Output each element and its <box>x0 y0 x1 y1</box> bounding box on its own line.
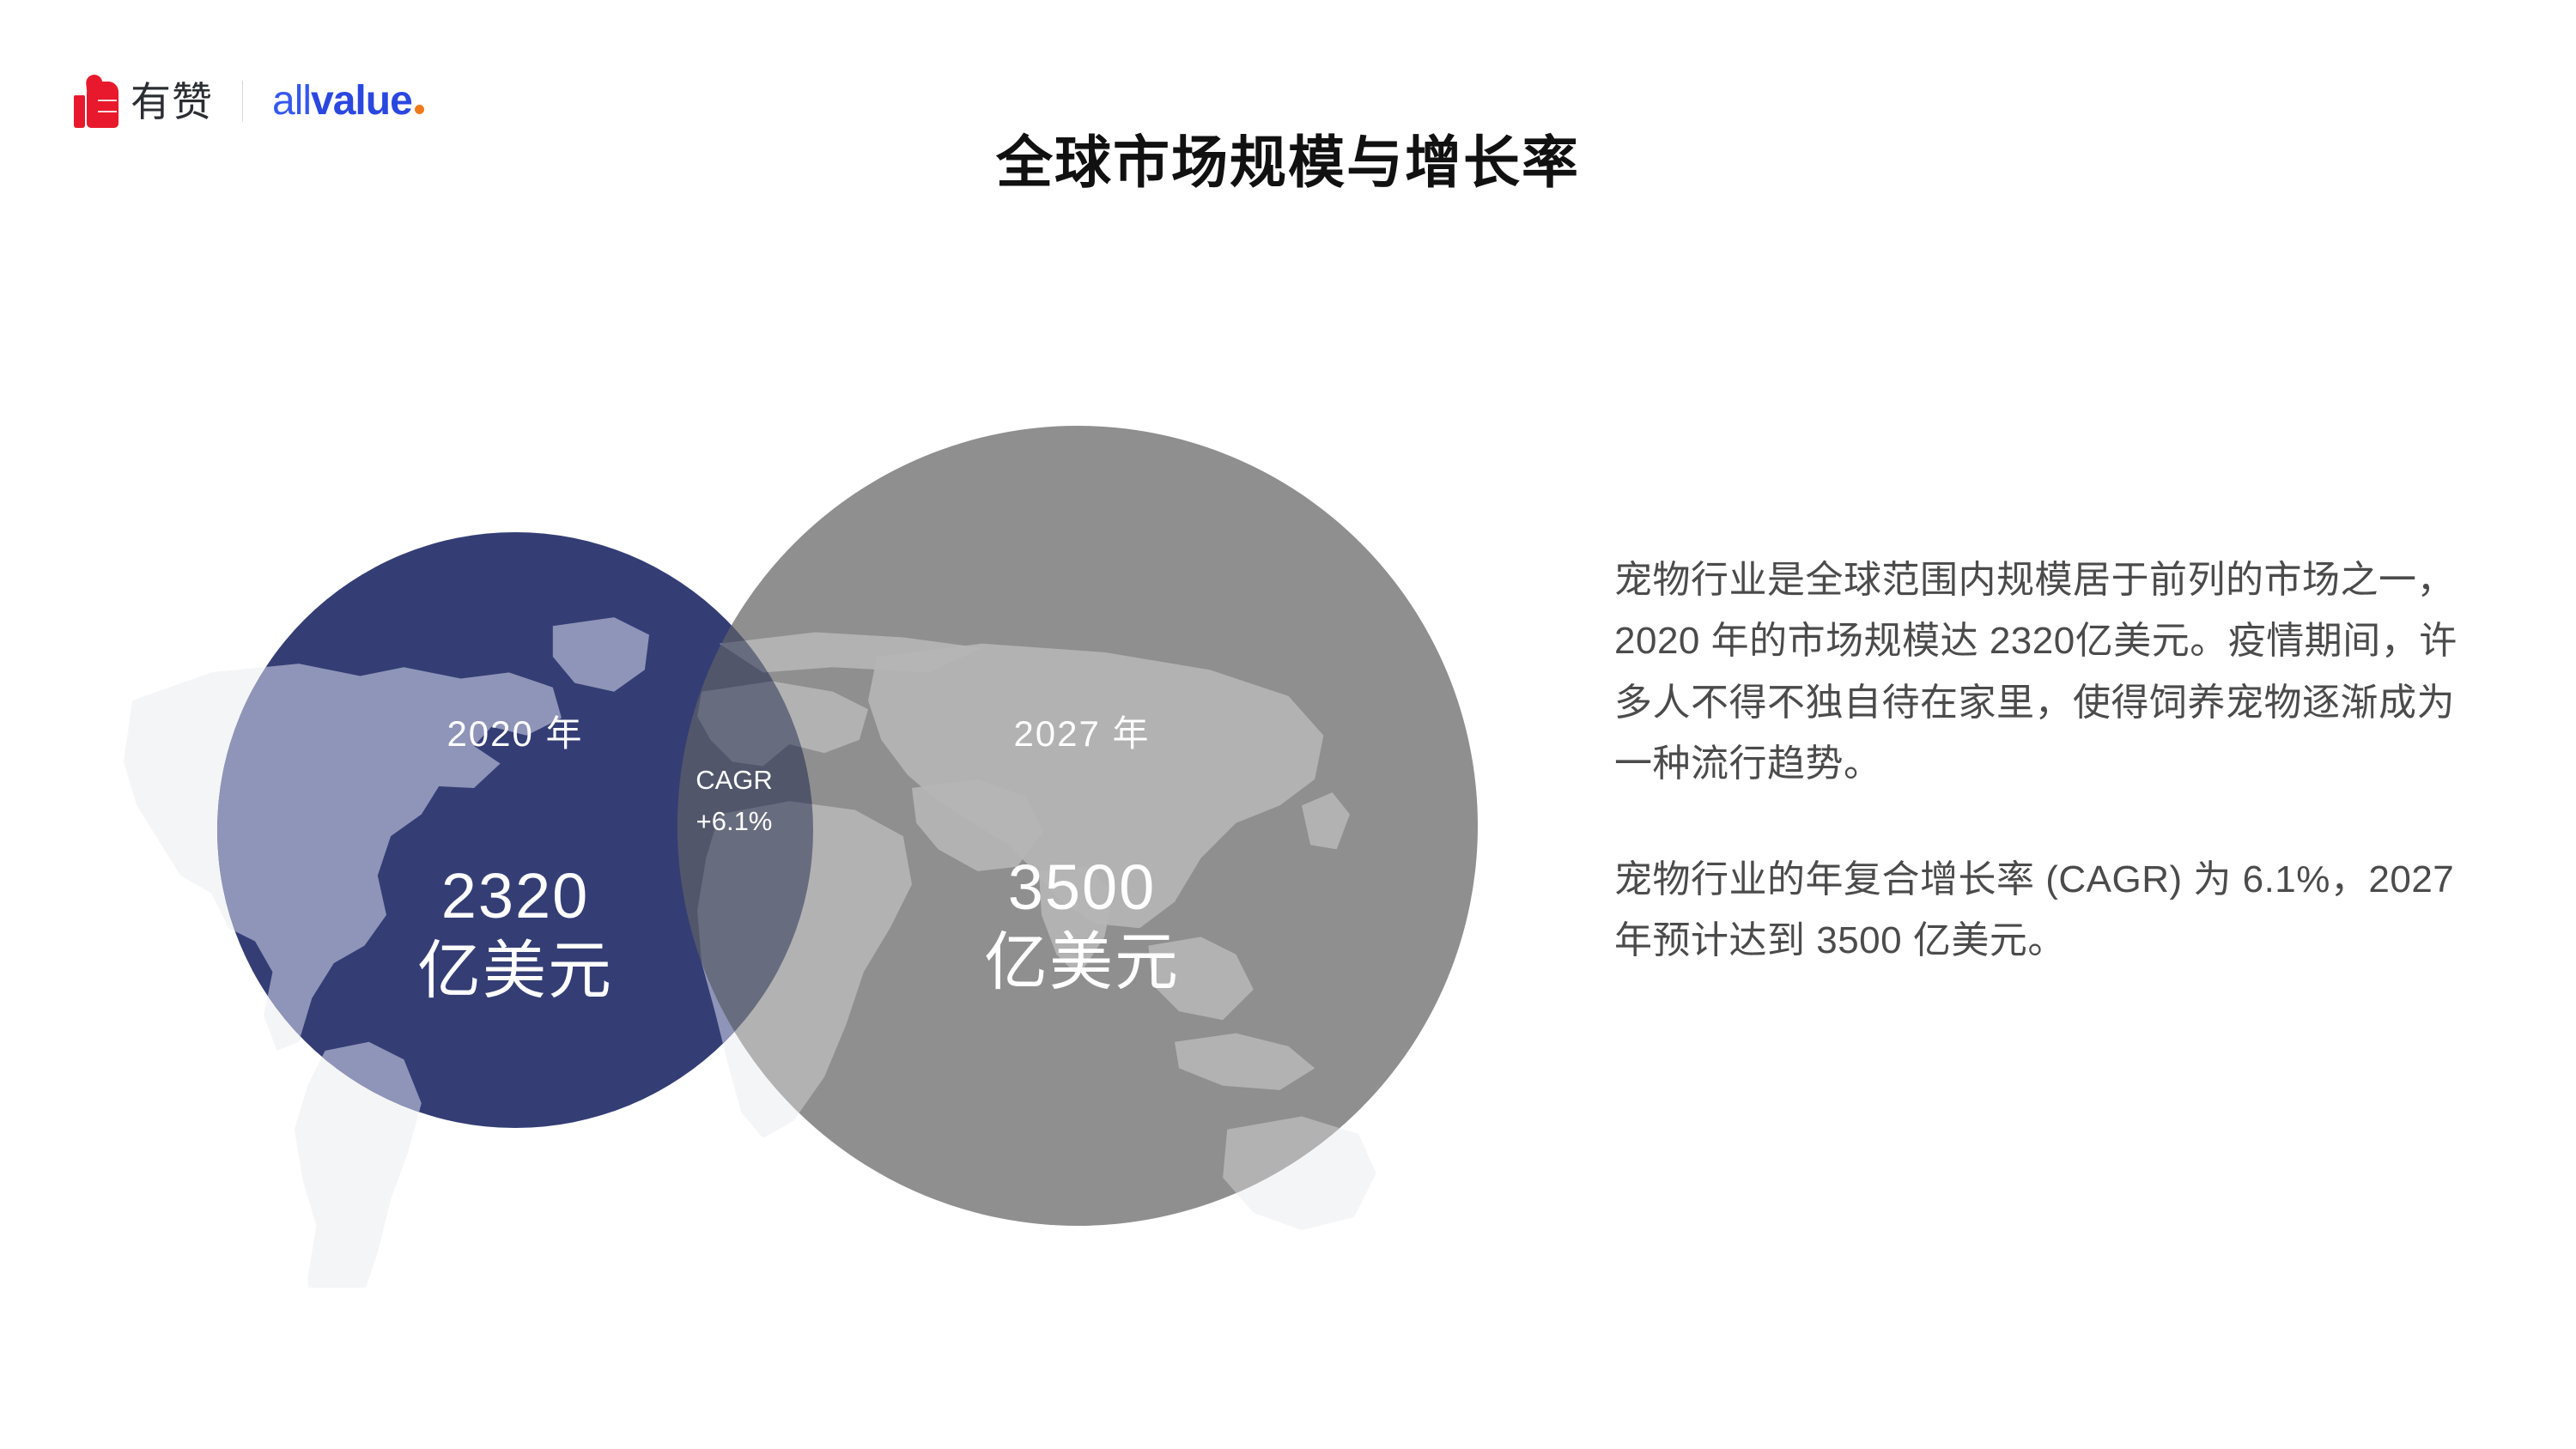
venn-diagram <box>0 343 1546 1288</box>
info-paragraph-1: 宠物行业是全球范围内规模居于前列的市场之一，2020 年的市场规模达 2320亿… <box>1614 549 2464 794</box>
allvalue-suffix: value <box>311 81 412 122</box>
info-paragraph-2: 宠物行业的年复合增长率 (CAGR) 为 6.1%，2027 年预计达到 350… <box>1614 849 2464 972</box>
allvalue-prefix: all <box>272 81 311 122</box>
thumbs-up-icon <box>74 75 118 128</box>
brand-bar: 有赞 allvalue <box>74 67 424 136</box>
info-panel: 宠物行业是全球范围内规模居于前列的市场之一，2020 年的市场规模达 2320亿… <box>1614 549 2464 972</box>
youzan-logo: 有赞 <box>74 75 213 128</box>
youzan-wordmark: 有赞 <box>131 82 213 122</box>
venn-svg <box>0 343 1546 1288</box>
brand-divider <box>242 81 243 122</box>
allvalue-logo: allvalue <box>272 81 424 122</box>
allvalue-dot-icon <box>415 105 424 114</box>
page-title: 全球市场规模与增长率 <box>0 130 2576 196</box>
